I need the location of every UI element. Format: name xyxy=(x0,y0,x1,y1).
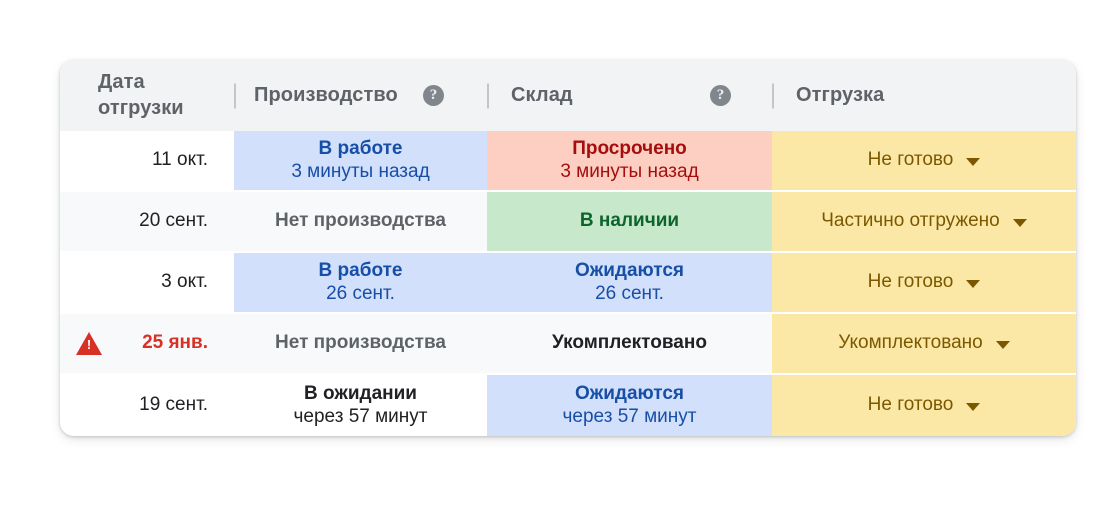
help-circle-icon[interactable]: ? xyxy=(423,85,444,106)
production-detail: через 57 минут xyxy=(294,406,428,428)
column-header-production-label: Производство xyxy=(254,84,398,107)
date-value: 25 янв. xyxy=(142,332,208,354)
shipping-status: Не готово xyxy=(868,394,954,416)
cell-date: 11 окт. xyxy=(60,131,234,190)
table-row: 25 янв. Нет производства Укомплектовано … xyxy=(60,314,1076,375)
warehouse-status: Укомплектовано xyxy=(552,332,707,354)
chevron-down-icon[interactable] xyxy=(996,341,1010,349)
cell-shipping[interactable]: Частично отгружено xyxy=(772,192,1076,251)
column-header-production[interactable]: Производство ? xyxy=(234,60,487,131)
warehouse-status: Просрочено xyxy=(572,138,687,160)
cell-production[interactable]: Нет производства xyxy=(234,314,487,373)
production-detail: 26 сент. xyxy=(326,283,395,305)
chevron-down-icon[interactable] xyxy=(966,158,980,166)
cell-shipping[interactable]: Не готово xyxy=(772,375,1076,436)
column-header-warehouse[interactable]: Склад ? xyxy=(487,60,772,131)
cell-production[interactable]: В работе 26 сент. xyxy=(234,253,487,312)
cell-date: 20 сент. xyxy=(60,192,234,251)
production-detail: 3 минуты назад xyxy=(291,161,429,183)
chevron-down-icon[interactable] xyxy=(1013,219,1027,227)
warning-triangle-icon xyxy=(76,332,102,355)
production-status: В ожидании xyxy=(304,383,417,405)
cell-warehouse[interactable]: В наличии xyxy=(487,192,772,251)
column-header-date-line1: Дата xyxy=(98,70,184,96)
production-status: В работе xyxy=(319,138,403,160)
cell-warehouse[interactable]: Ожидаются через 57 минут xyxy=(487,375,772,436)
table-header-row: Дата отгрузки Производство ? Склад ? Отг… xyxy=(60,60,1076,131)
cell-warehouse[interactable]: Ожидаются 26 сент. xyxy=(487,253,772,312)
chevron-down-icon[interactable] xyxy=(966,280,980,288)
warehouse-detail: 3 минуты назад xyxy=(560,161,698,183)
column-header-date-line2: отгрузки xyxy=(98,96,184,122)
cell-warehouse[interactable]: Просрочено 3 минуты назад xyxy=(487,131,772,190)
table-body: 11 окт. В работе 3 минуты назад Просроче… xyxy=(60,131,1076,436)
status-table-card: Дата отгрузки Производство ? Склад ? Отг… xyxy=(60,60,1076,436)
table-row: 19 сент. В ожидании через 57 минут Ожида… xyxy=(60,375,1076,436)
date-value: 20 сент. xyxy=(139,210,208,232)
column-header-warehouse-label: Склад xyxy=(511,84,573,107)
column-header-date[interactable]: Дата отгрузки xyxy=(60,60,234,131)
column-divider xyxy=(772,83,774,108)
table-row: 3 окт. В работе 26 сент. Ожидаются 26 се… xyxy=(60,253,1076,314)
date-value: 3 окт. xyxy=(161,271,208,293)
column-divider xyxy=(234,83,236,108)
cell-shipping[interactable]: Не готово xyxy=(772,131,1076,190)
cell-warehouse[interactable]: Укомплектовано xyxy=(487,314,772,373)
cell-date: 25 янв. xyxy=(60,314,234,373)
cell-production[interactable]: В ожидании через 57 минут xyxy=(234,375,487,436)
production-status: Нет производства xyxy=(275,332,446,354)
shipping-status: Не готово xyxy=(868,271,954,293)
warehouse-status: Ожидаются xyxy=(575,383,684,405)
shipping-status: Не готово xyxy=(868,149,954,171)
column-header-shipping[interactable]: Отгрузка xyxy=(772,60,1076,131)
shipping-status: Укомплектовано xyxy=(838,332,982,354)
column-header-shipping-label: Отгрузка xyxy=(796,84,884,107)
warehouse-status: Ожидаются xyxy=(575,260,684,282)
warehouse-detail: через 57 минут xyxy=(563,406,697,428)
cell-shipping[interactable]: Не готово xyxy=(772,253,1076,312)
shipping-status: Частично отгружено xyxy=(821,210,999,232)
cell-shipping[interactable]: Укомплектовано xyxy=(772,314,1076,373)
warehouse-status: В наличии xyxy=(580,210,679,232)
date-value: 19 сент. xyxy=(139,394,208,416)
table-row: 20 сент. Нет производства В наличии Част… xyxy=(60,192,1076,253)
help-circle-icon[interactable]: ? xyxy=(710,85,731,106)
screenshot-stage: Дата отгрузки Производство ? Склад ? Отг… xyxy=(0,0,1120,520)
chevron-down-icon[interactable] xyxy=(966,403,980,411)
warehouse-detail: 26 сент. xyxy=(595,283,664,305)
cell-production[interactable]: В работе 3 минуты назад xyxy=(234,131,487,190)
cell-production[interactable]: Нет производства xyxy=(234,192,487,251)
production-status: Нет производства xyxy=(275,210,446,232)
cell-date: 3 окт. xyxy=(60,253,234,312)
production-status: В работе xyxy=(319,260,403,282)
date-value: 11 окт. xyxy=(152,149,208,171)
table-row: 11 окт. В работе 3 минуты назад Просроче… xyxy=(60,131,1076,192)
cell-date: 19 сент. xyxy=(60,375,234,436)
column-divider xyxy=(487,83,489,108)
